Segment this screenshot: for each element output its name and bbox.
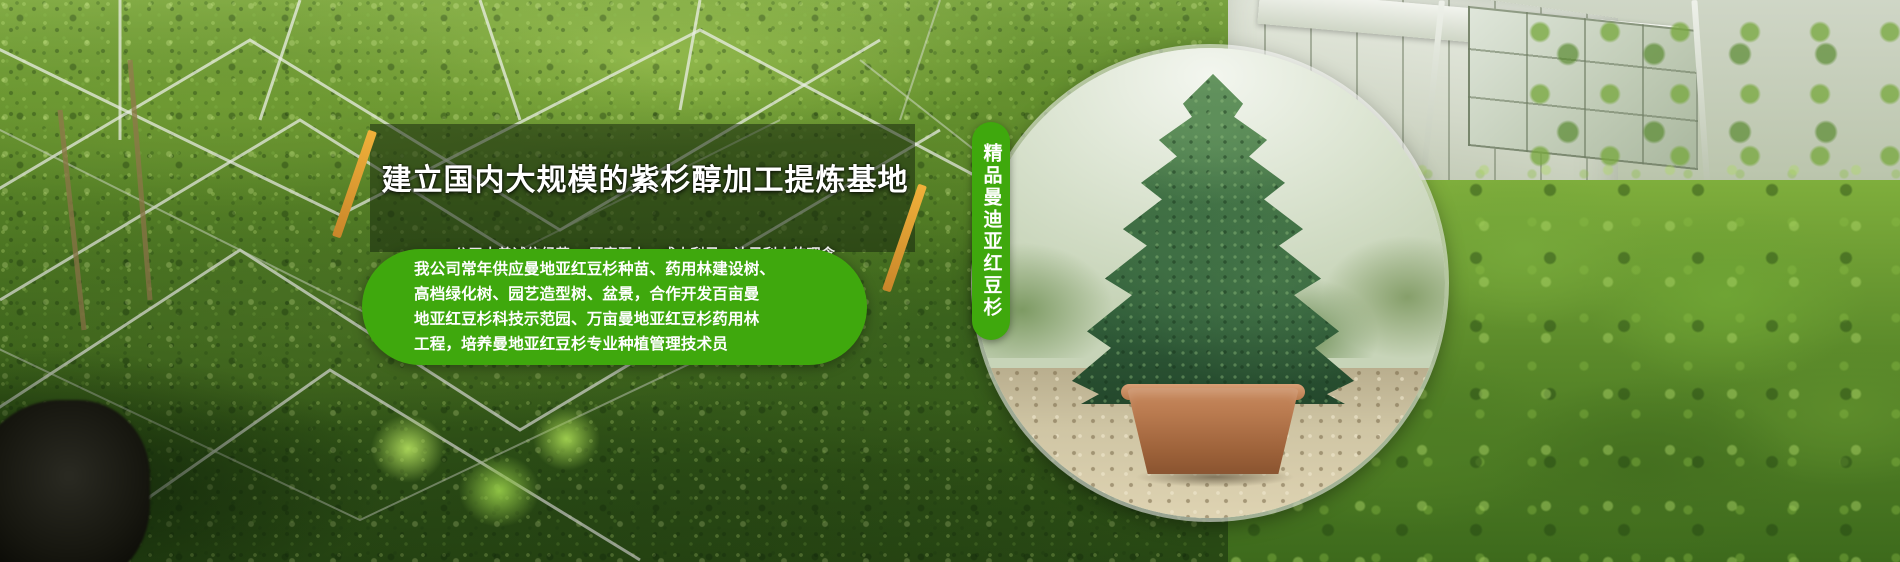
- vertical-product-label: 精品曼迪亚红豆杉: [972, 122, 1010, 340]
- product-photo-circle: [975, 48, 1445, 518]
- info-line-4: 工程，培养曼地亚红豆杉专业种植管理技术员: [414, 332, 864, 357]
- foreground-rock: [0, 400, 150, 562]
- vertical-product-label-text: 精品曼迪亚红豆杉: [982, 143, 1001, 319]
- foreground-leaves: [360, 400, 600, 562]
- info-line-1: 我公司常年供应曼地亚红豆杉种苗、药用林建设树、: [414, 257, 864, 282]
- info-line-2: 高档绿化树、园艺造型树、盆景，合作开发百亩曼: [414, 282, 864, 307]
- info-line-3: 地亚红豆杉科技示范园、万亩曼地亚红豆杉药用林: [414, 307, 864, 332]
- info-callout-text: 我公司常年供应曼地亚红豆杉种苗、药用林建设树、 高档绿化树、园艺造型树、盆景，合…: [414, 257, 864, 357]
- page-title: 建立国内大规模的紫杉醇加工提炼基地: [380, 160, 910, 202]
- flower-pot: [1127, 388, 1299, 474]
- promo-banner: 建立国内大规模的紫杉醇加工提炼基地 公司本着诚信经营、 顾客至上、成人利己、达己…: [0, 0, 1900, 562]
